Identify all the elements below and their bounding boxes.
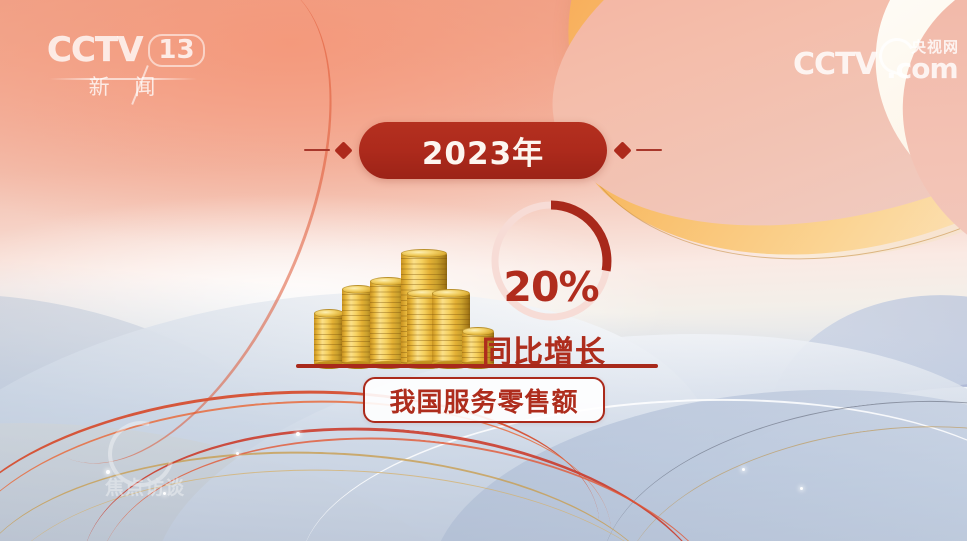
year-badge: 2023年 (359, 122, 607, 179)
year-label: 2023年 (422, 128, 544, 173)
sparkle-dot (742, 468, 745, 471)
ornament-left (304, 144, 350, 157)
dash-icon (636, 149, 662, 152)
coin-top (401, 249, 447, 258)
ornament-right (616, 144, 662, 157)
subject-label-box: 我国服务零售额 (363, 377, 605, 423)
cctv-com-dotcom: .com (886, 52, 958, 85)
dash-icon (304, 149, 330, 152)
coin-top (314, 309, 344, 318)
sparkle-dot (236, 452, 239, 455)
cctv-com-watermark: CCTV 央视网 .com (793, 38, 963, 86)
cctv-subtitle: 新 闻 (47, 71, 197, 101)
percentage-value: 20% (486, 196, 616, 326)
coin-stack-chart (300, 240, 500, 365)
diamond-icon (613, 141, 631, 159)
diamond-icon (334, 141, 352, 159)
coin-stack-1 (314, 313, 344, 365)
cctv-underline (49, 78, 197, 80)
cctv-com-wordmark: CCTV (793, 50, 877, 80)
growth-caption: 同比增长 (482, 327, 606, 371)
cctv-logo-row: CCTV 13 (47, 33, 207, 67)
coin-top (432, 289, 470, 298)
focus-interview-watermark: 焦点访谈 (70, 425, 220, 505)
sparkle-dot (800, 487, 803, 490)
cctv-wordmark: CCTV (47, 33, 142, 67)
coin-column (314, 313, 344, 365)
cctv-channel-number: 13 (148, 34, 204, 67)
sparkle-dot (296, 432, 300, 436)
broadcast-frame: CCTV 13 新 闻 CCTV 央视网 .com 焦点访谈 2023年 (0, 0, 967, 541)
percentage-ring-gauge: 20% (486, 196, 616, 326)
cctv-logo: CCTV 13 新 闻 (47, 33, 207, 101)
subject-label: 我国服务零售额 (389, 382, 578, 419)
focus-interview-label: 焦点访谈 (70, 473, 220, 500)
year-badge-row: 2023年 (283, 119, 683, 181)
